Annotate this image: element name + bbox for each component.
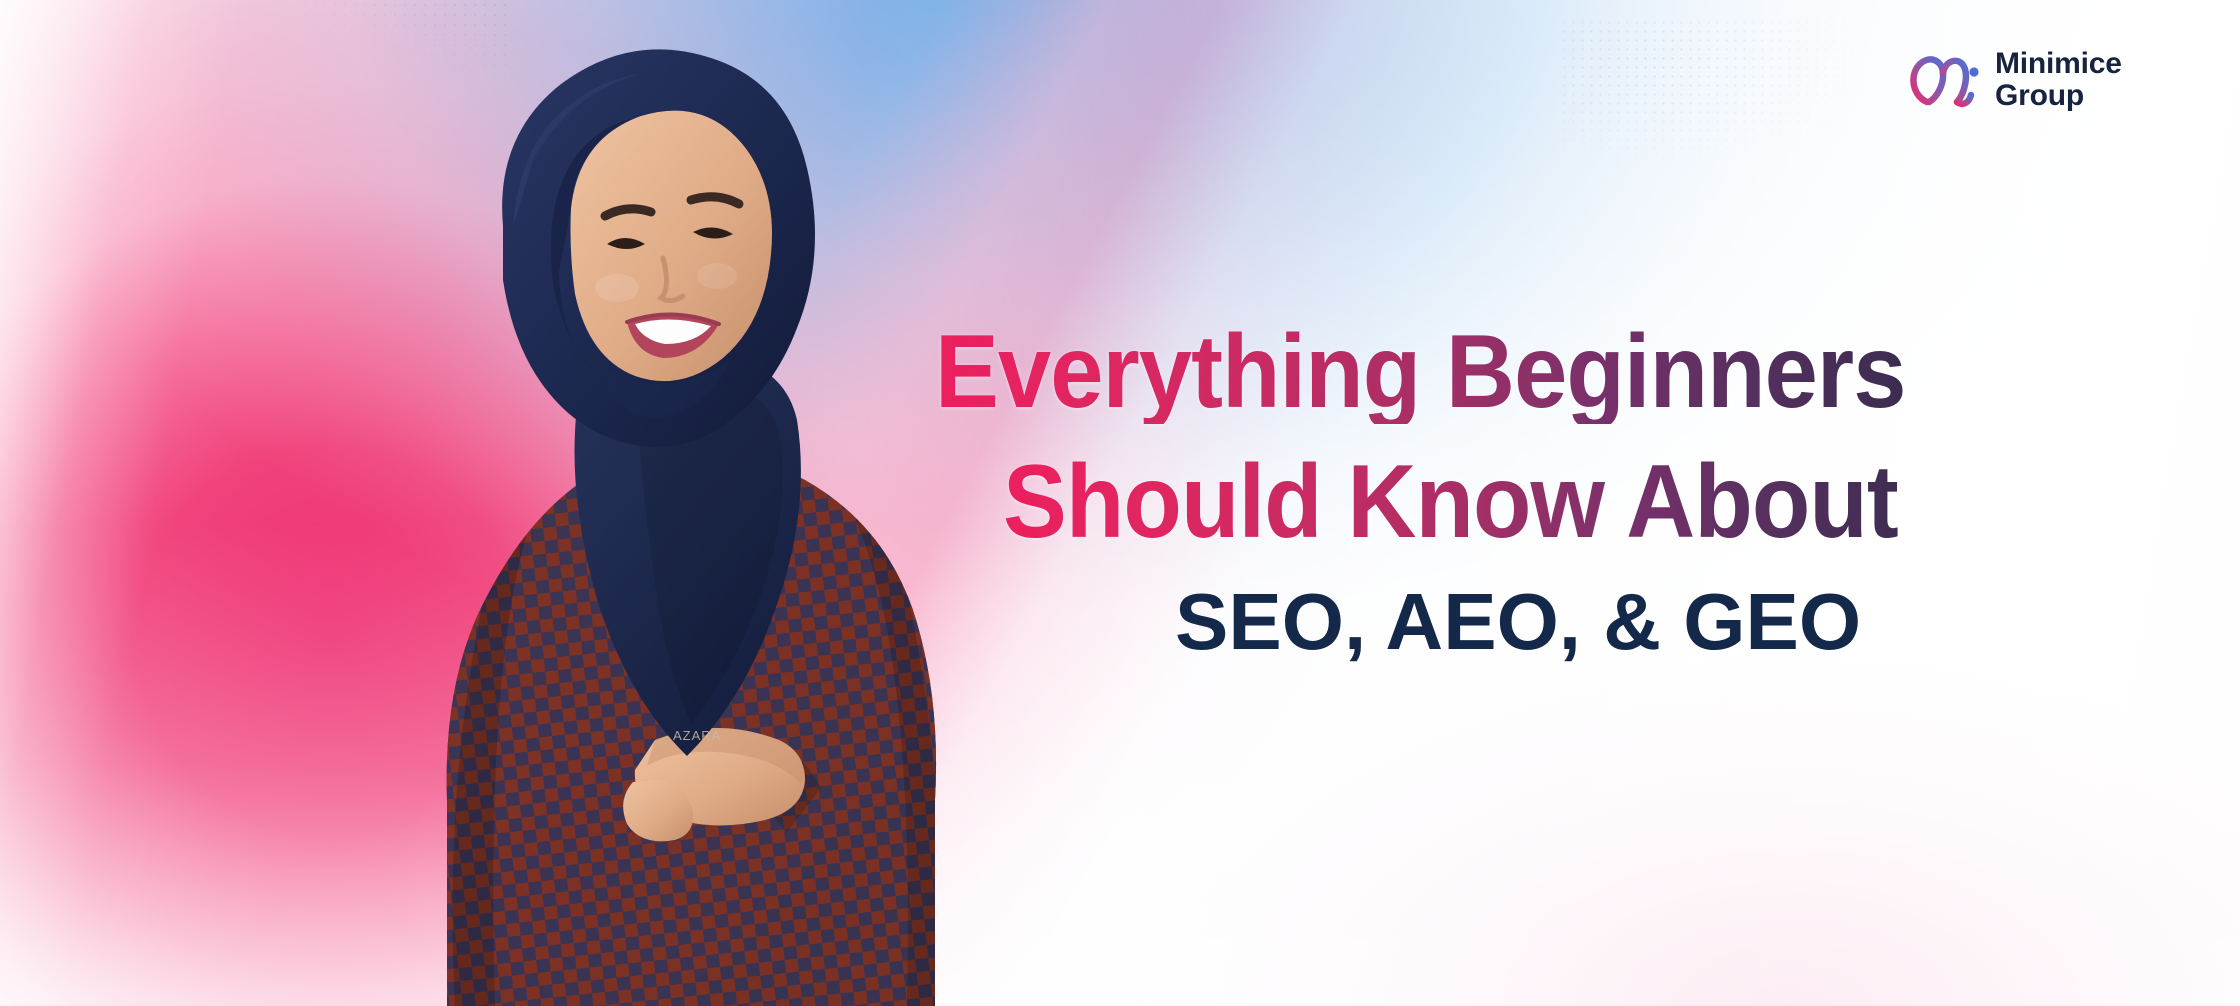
seo-webinar-banner: AZARA xyxy=(0,0,2240,1006)
headline-line-2: Should Know About xyxy=(1003,450,2044,554)
minimice-swirl-mark xyxy=(1905,48,1981,112)
headline-subline: SEO, AEO, & GEO xyxy=(1175,580,2135,664)
headline-line-1: Everything Beginners xyxy=(935,320,2039,424)
hero-photo-woman: AZARA xyxy=(335,40,995,1006)
background-dot-texture xyxy=(1560,18,1860,168)
photo-garment-label: AZARA xyxy=(673,728,721,743)
minimice-group-wordmark: Minimice Group xyxy=(1995,48,2122,112)
minimice-group-logo[interactable]: Minimice Group xyxy=(1905,48,2122,112)
headline-block: Everything Beginners Should Know About S… xyxy=(935,320,2135,664)
